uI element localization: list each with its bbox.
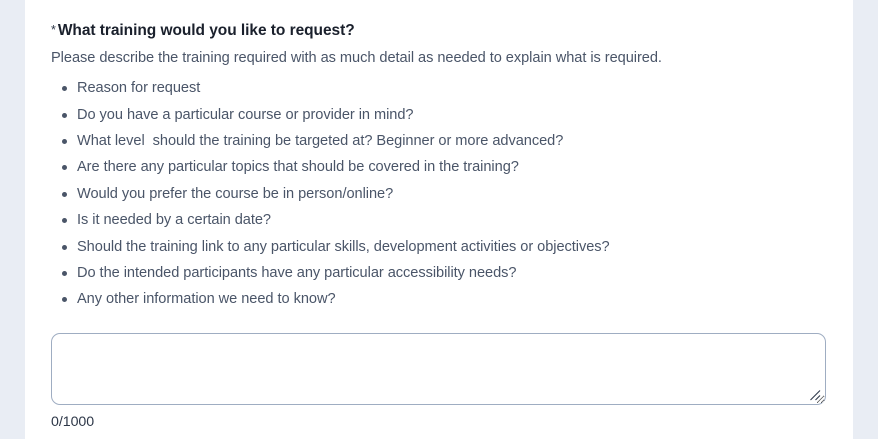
- list-item: Would you prefer the course be in person…: [77, 181, 827, 207]
- list-item: Are there any particular topics that sho…: [77, 154, 827, 180]
- answer-section: 0/1000: [51, 333, 826, 431]
- form-page: *What training would you like to request…: [0, 0, 878, 439]
- question-title: What training would you like to request?: [58, 22, 355, 39]
- answer-field-holder: [51, 333, 826, 405]
- question-description: Please describe the training required wi…: [51, 49, 827, 69]
- guidance-list: Reason for request Do you have a particu…: [51, 75, 827, 313]
- list-item: What level should the training be target…: [77, 128, 827, 154]
- training-request-question-block: *What training would you like to request…: [51, 21, 827, 431]
- required-marker: *: [51, 23, 56, 37]
- list-item: Do the intended participants have any pa…: [77, 260, 827, 286]
- list-item: Is it needed by a certain date?: [77, 207, 827, 233]
- page-gutter-right: [853, 0, 878, 439]
- form-sheet: *What training would you like to request…: [25, 0, 853, 439]
- training-request-textarea[interactable]: [51, 333, 826, 405]
- list-item: Any other information we need to know?: [77, 286, 827, 312]
- list-item: Reason for request: [77, 75, 827, 101]
- character-counter: 0/1000: [51, 414, 826, 431]
- list-item: Should the training link to any particul…: [77, 234, 827, 260]
- page-title: *What training would you like to request…: [51, 21, 827, 41]
- list-item: Do you have a particular course or provi…: [77, 102, 827, 128]
- page-gutter-left: [0, 0, 25, 439]
